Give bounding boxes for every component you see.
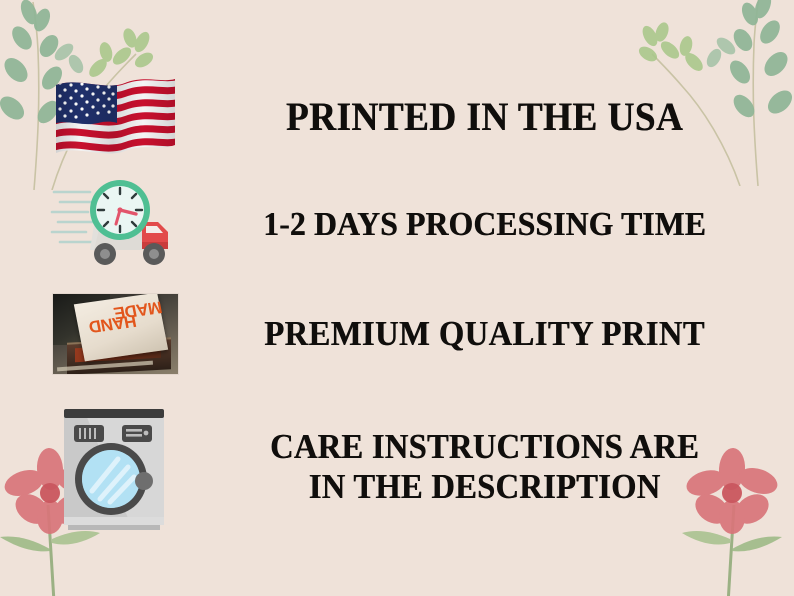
text-cell-3: PREMIUM QUALITY PRINT (230, 314, 794, 354)
washing-machine-icon (56, 401, 174, 533)
text-cell-1: PRINTED IN THE USA (230, 94, 794, 139)
feature-text-care-instructions: CARE INSTRUCTIONS ARE IN THE DESCRIPTION (248, 427, 721, 506)
photo-printed-sheet: MADE HAND (73, 293, 167, 361)
feature-row-processing-time: 1-2 DAYS PROCESSING TIME (0, 175, 794, 275)
feature-row-care-instructions: CARE INSTRUCTIONS ARE IN THE DESCRIPTION (0, 392, 794, 542)
feature-text-premium-quality: PREMIUM QUALITY PRINT (248, 314, 721, 354)
feature-text-processing-time: 1-2 DAYS PROCESSING TIME (248, 206, 721, 244)
promo-card: PRINTED IN THE USA (0, 0, 794, 596)
text-cell-2: 1-2 DAYS PROCESSING TIME (230, 206, 794, 244)
icon-cell-2 (0, 178, 230, 273)
icon-cell-1 (0, 73, 230, 161)
usa-flag-icon (53, 73, 178, 161)
screen-printing-photo: MADE HAND (52, 293, 179, 375)
icon-cell-4 (0, 401, 230, 533)
feature-row-printed-in-usa: PRINTED IN THE USA (0, 62, 794, 172)
feature-row-premium-quality: MADE HAND PREMIUM QUALITY PRINT (0, 286, 794, 381)
fast-delivery-clock-icon (50, 178, 180, 273)
icon-cell-3: MADE HAND (0, 293, 230, 375)
text-cell-4: CARE INSTRUCTIONS ARE IN THE DESCRIPTION (230, 427, 794, 506)
feature-text-printed-in-usa: PRINTED IN THE USA (248, 94, 721, 139)
photo-word-hand: HAND (87, 311, 137, 333)
